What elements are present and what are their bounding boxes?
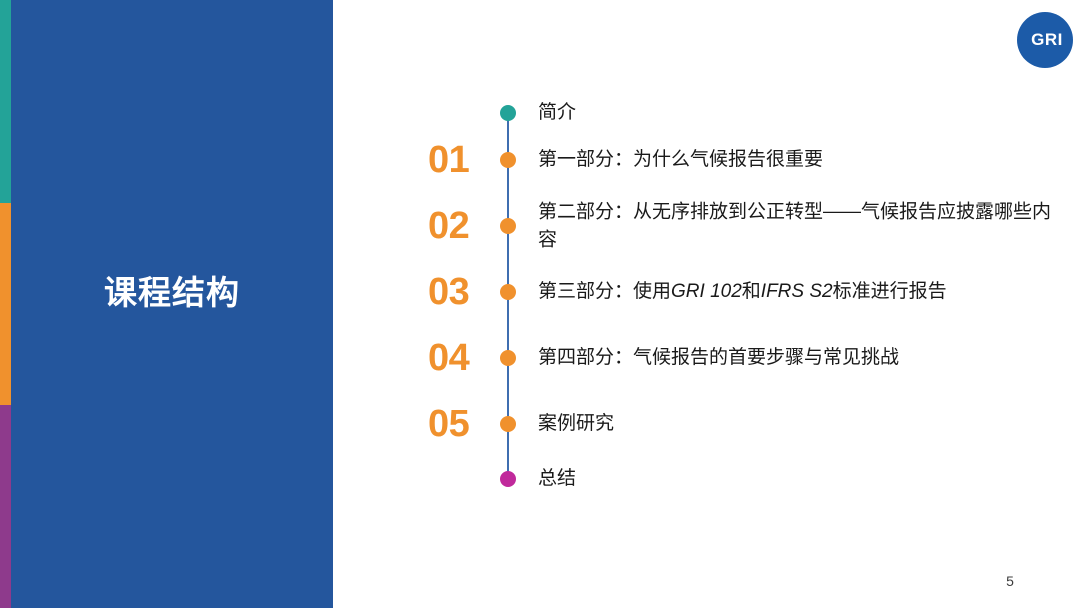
course-structure-timeline: 简介 01 第一部分：为什么气候报告很重要 02 第二部分：从无序排放到公正转型… xyxy=(400,0,1080,608)
edge-stripe-teal-segment xyxy=(0,0,11,203)
edge-stripe-orange-segment xyxy=(0,203,11,405)
timeline-number-4: 04 xyxy=(428,339,490,377)
timeline-label-3: 第三部分：使用GRI 102和IFRS S2标准进行报告 xyxy=(538,278,1068,306)
timeline-dot-2 xyxy=(500,218,516,234)
timeline-dot-1 xyxy=(500,152,516,168)
edge-accent-stripe xyxy=(0,0,11,608)
timeline-number-2: 02 xyxy=(428,207,490,245)
timeline-dot-3 xyxy=(500,284,516,300)
page-number: 5 xyxy=(995,573,1025,589)
timeline-number-3: 03 xyxy=(428,273,490,311)
timeline-dot-5 xyxy=(500,416,516,432)
timeline-label-4: 第四部分：气候报告的首要步骤与常见挑战 xyxy=(538,344,1068,372)
timeline-label-5: 案例研究 xyxy=(538,410,1068,438)
timeline-label-6: 总结 xyxy=(538,465,1068,493)
timeline-number-5: 05 xyxy=(428,405,490,443)
timeline-label-1: 第一部分：为什么气候报告很重要 xyxy=(538,146,1068,174)
timeline-dot-4 xyxy=(500,350,516,366)
timeline-number-1: 01 xyxy=(428,141,490,179)
slide-title: 课程结构 xyxy=(11,273,333,313)
title-panel: 课程结构 xyxy=(11,0,333,608)
edge-stripe-purple-segment xyxy=(0,405,11,608)
slide-canvas: 课程结构 GRI 简介 01 第一部分：为什么气候报告很重要 02 第二部分：从… xyxy=(0,0,1080,608)
timeline-dot-6 xyxy=(500,471,516,487)
timeline-dot-0 xyxy=(500,105,516,121)
timeline-label-0: 简介 xyxy=(538,99,1068,127)
timeline-label-2: 第二部分：从无序排放到公正转型——气候报告应披露哪些内容 xyxy=(538,198,1068,253)
